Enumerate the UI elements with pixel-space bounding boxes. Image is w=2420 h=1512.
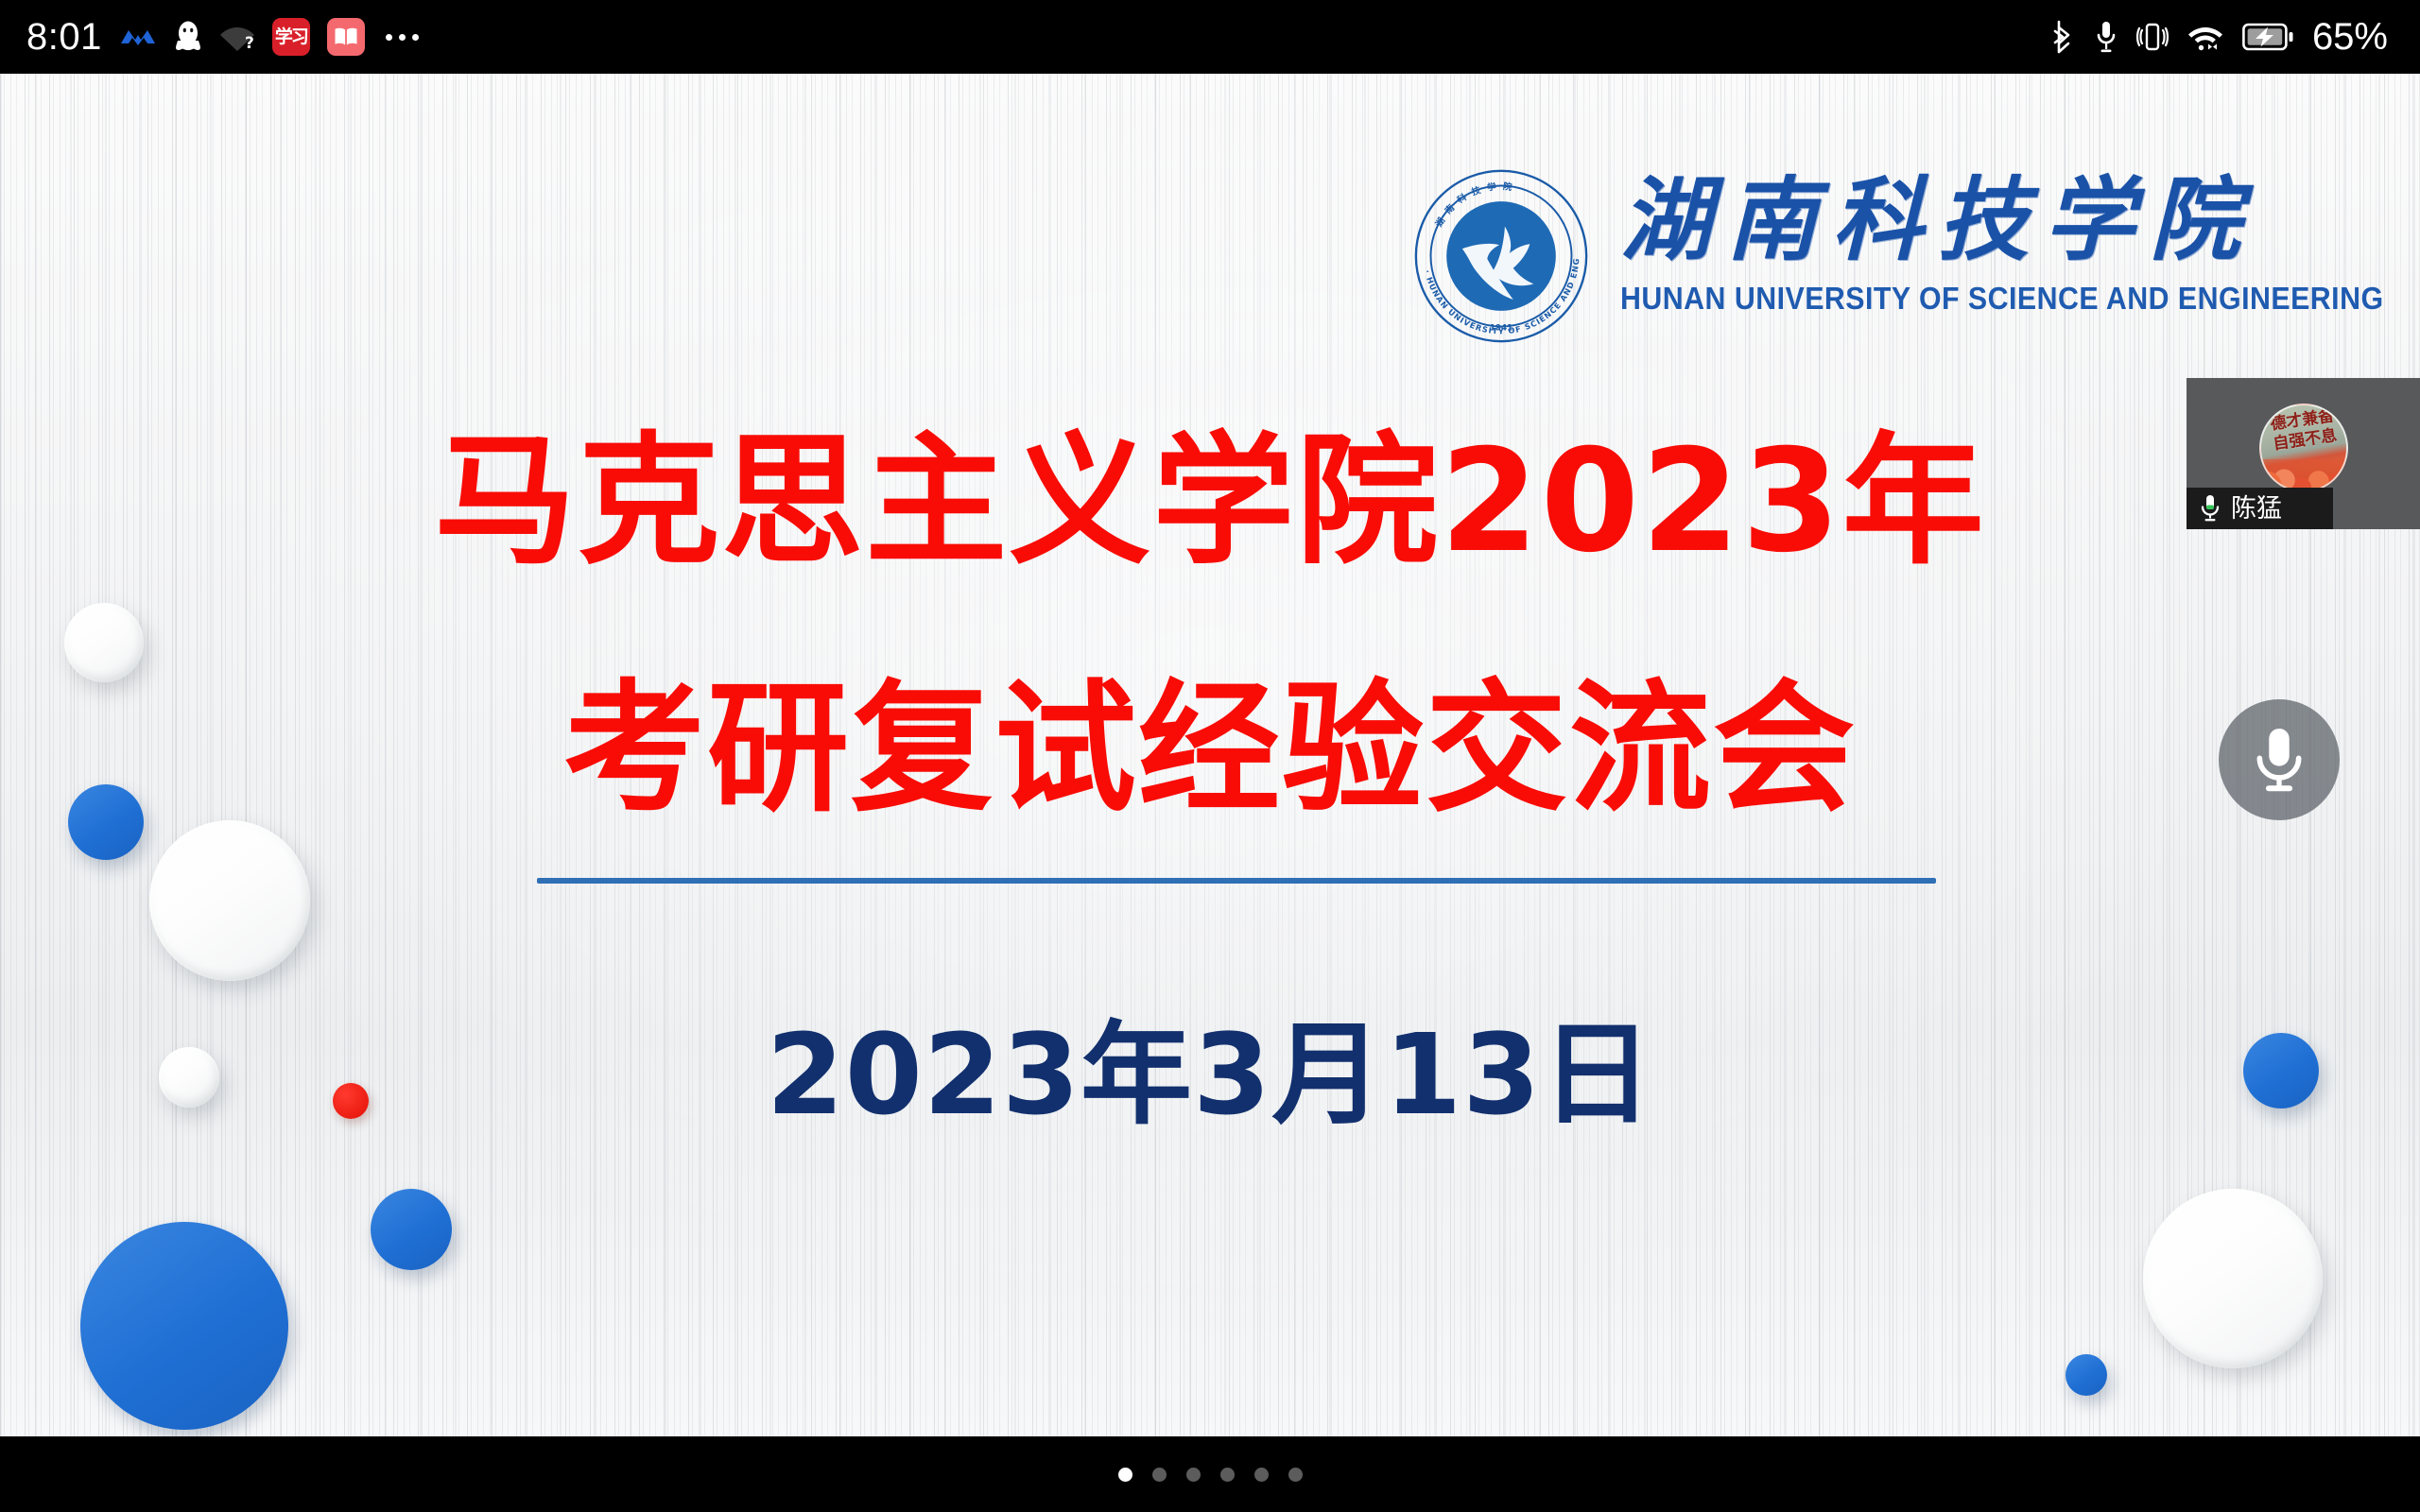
status-bar-left-group: 8:01 ? 学习 bbox=[0, 18, 419, 56]
deco-circle-white-1 bbox=[64, 603, 144, 682]
university-name-block: 湖南科技学院 HUNAN UNIVERSITY OF SCIENCE AND E… bbox=[1620, 163, 2420, 317]
deco-circle-blue-2 bbox=[371, 1189, 452, 1270]
page-dot-6[interactable] bbox=[1288, 1468, 1303, 1482]
status-clock: 8:01 bbox=[26, 18, 102, 56]
slide-subtitle-date: 2023年3月13日 bbox=[0, 1019, 2420, 1130]
battery-charging-icon bbox=[2242, 23, 2293, 51]
page-indicator[interactable] bbox=[0, 1436, 2420, 1512]
slide-title-line-1: 马克思主义学院2023年 bbox=[0, 431, 2420, 573]
svg-text:?: ? bbox=[245, 34, 254, 52]
microphone-active-icon bbox=[2095, 19, 2117, 55]
qq-penguin-icon bbox=[174, 20, 202, 54]
status-bar: 8:01 ? 学习 bbox=[0, 0, 2420, 74]
title-underline-rule bbox=[537, 878, 1936, 884]
xuexi-app-icon: 学习 bbox=[272, 18, 310, 56]
wifi-icon bbox=[2187, 22, 2223, 52]
participant-video-tile[interactable]: 德才兼备 自强不息 陈猛 bbox=[2187, 378, 2420, 529]
vibrate-mode-icon bbox=[2136, 19, 2169, 55]
university-name-en: HUNAN UNIVERSITY OF SCIENCE AND ENGINEER… bbox=[1620, 281, 2384, 317]
avatar-rock-inscription: 德才兼备 自强不息 bbox=[2269, 406, 2338, 455]
reader-book-icon bbox=[327, 18, 365, 56]
presentation-slide[interactable]: 湖南科技学院 · HUNAN UNIVERSITY OF SCIENCE AND… bbox=[0, 74, 2420, 1436]
deco-circle-blue-3 bbox=[80, 1222, 288, 1430]
page-dot-3[interactable] bbox=[1186, 1468, 1201, 1482]
deco-circle-white-2 bbox=[149, 820, 310, 981]
battery-percent-label: 65% bbox=[2312, 18, 2388, 56]
deco-circle-white-4 bbox=[2143, 1189, 2323, 1368]
bluetooth-icon bbox=[2051, 18, 2076, 56]
svg-text:1941: 1941 bbox=[1490, 323, 1513, 333]
page-dot-4[interactable] bbox=[1220, 1468, 1235, 1482]
university-emblem-icon: 湖南科技学院 · HUNAN UNIVERSITY OF SCIENCE AND… bbox=[1409, 163, 1594, 349]
participant-name-label: 陈猛 bbox=[2231, 496, 2282, 522]
momo-icon bbox=[119, 25, 157, 49]
university-logo: 湖南科技学院 · HUNAN UNIVERSITY OF SCIENCE AND… bbox=[1409, 163, 2420, 349]
wifi-question-icon: ? bbox=[219, 22, 255, 52]
slide-title-line-2: 考研复试经验交流会 bbox=[0, 679, 2420, 820]
page-dot-1[interactable] bbox=[1118, 1468, 1132, 1482]
page-dot-2[interactable] bbox=[1152, 1468, 1167, 1482]
participant-name-bar: 陈猛 bbox=[2187, 488, 2333, 529]
deco-circle-blue-5 bbox=[2066, 1354, 2107, 1396]
microphone-button[interactable] bbox=[2219, 699, 2340, 820]
xuexi-app-label: 学习 bbox=[275, 28, 307, 46]
university-name-cn: 湖南科技学院 bbox=[1620, 169, 2420, 271]
status-bar-right-group: 65% bbox=[2051, 18, 2420, 56]
microphone-icon bbox=[2200, 493, 2221, 524]
page-dot-5[interactable] bbox=[1254, 1468, 1269, 1482]
more-icons-ellipsis bbox=[386, 34, 419, 41]
avatar: 德才兼备 自强不息 bbox=[2259, 404, 2348, 492]
